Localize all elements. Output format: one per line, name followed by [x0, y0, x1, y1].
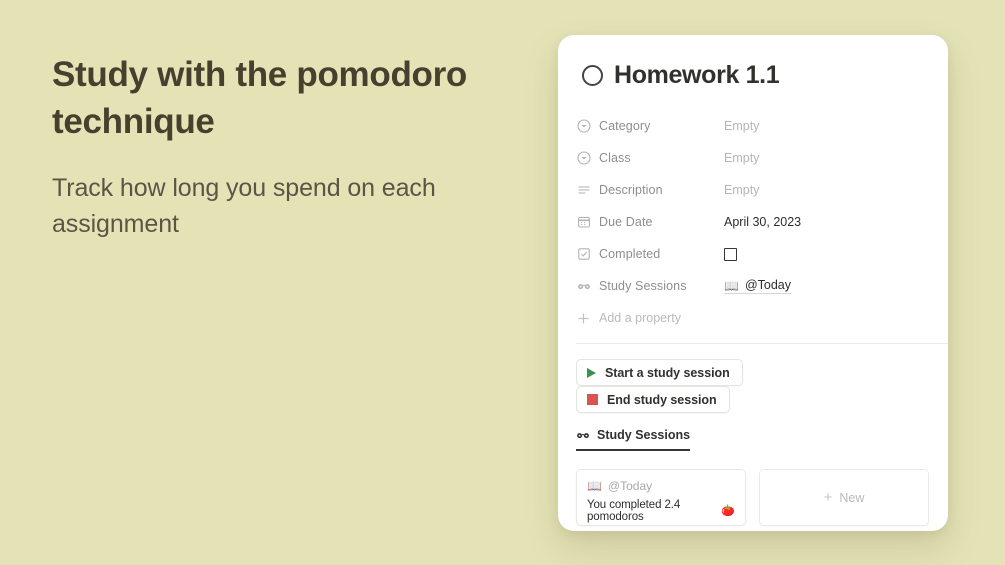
page-title[interactable]: Homework 1.1 — [614, 63, 779, 88]
property-label-study-sessions: Study Sessions — [576, 279, 724, 294]
glasses-icon — [576, 428, 590, 442]
session-card[interactable]: 📖 @Today You completed 2.4 pomodoros 🍅 — [576, 469, 746, 526]
property-label-category: Category — [576, 119, 724, 134]
property-row-study-sessions[interactable]: Study Sessions 📖 @Today — [576, 270, 930, 302]
property-row-description[interactable]: Description Empty — [576, 174, 930, 206]
session-card-title: @Today — [608, 479, 652, 493]
property-name: Due Date — [599, 215, 653, 229]
play-icon — [587, 368, 596, 378]
session-card-text: You completed 2.4 pomodoros — [587, 499, 717, 523]
tab-bar: Study Sessions — [558, 428, 948, 451]
property-name: Class — [599, 151, 631, 165]
property-row-due-date[interactable]: Due Date April 30, 2023 — [576, 206, 930, 238]
new-session-button[interactable]: + New — [759, 469, 929, 526]
session-card-header: 📖 @Today — [587, 479, 735, 493]
plus-icon: + — [824, 490, 833, 505]
promo-subheadline: Track how long you spend on each assignm… — [52, 171, 522, 242]
text-lines-icon — [576, 183, 591, 198]
checkbox-icon — [576, 247, 591, 262]
property-row-completed[interactable]: Completed — [576, 238, 930, 270]
session-card-body: You completed 2.4 pomodoros 🍅 — [587, 499, 735, 523]
property-list: Category Empty Class Empty — [558, 110, 948, 333]
property-value-due-date[interactable]: April 30, 2023 — [724, 215, 801, 229]
promo-panel: Study with the pomodoro technique Track … — [52, 52, 522, 242]
completed-checkbox[interactable] — [724, 248, 737, 261]
property-name: Description — [599, 183, 663, 197]
tab-study-sessions[interactable]: Study Sessions — [576, 428, 690, 451]
property-label-completed: Completed — [576, 247, 724, 262]
book-icon: 📖 — [724, 280, 739, 292]
property-label-due-date: Due Date — [576, 215, 724, 230]
end-study-session-label: End study session — [607, 393, 717, 407]
property-value-class[interactable]: Empty — [724, 151, 759, 165]
end-study-session-button[interactable]: End study session — [576, 386, 730, 413]
relation-chip[interactable]: 📖 @Today — [724, 278, 791, 294]
select-icon — [576, 119, 591, 134]
start-study-session-label: Start a study session — [605, 366, 730, 380]
tomato-icon: 🍅 — [721, 506, 735, 517]
new-session-label: New — [839, 491, 864, 505]
add-property-button[interactable]: Add a property — [576, 303, 930, 333]
card-title-row: Homework 1.1 — [558, 63, 948, 88]
plus-icon — [576, 311, 591, 326]
property-name: Completed — [599, 247, 660, 261]
property-name: Study Sessions — [599, 279, 687, 293]
select-icon — [576, 151, 591, 166]
property-label-class: Class — [576, 151, 724, 166]
circle-icon[interactable] — [582, 65, 603, 86]
stop-icon — [587, 394, 598, 405]
add-property-label: Add a property — [599, 311, 681, 325]
calendar-icon — [576, 215, 591, 230]
tab-label: Study Sessions — [597, 428, 690, 442]
property-row-category[interactable]: Category Empty — [576, 110, 930, 142]
property-value-study-sessions[interactable]: 📖 @Today — [724, 278, 791, 294]
property-label-description: Description — [576, 183, 724, 198]
session-card-row: 📖 @Today You completed 2.4 pomodoros 🍅 +… — [558, 451, 948, 526]
start-study-session-button[interactable]: Start a study session — [576, 359, 743, 386]
property-row-class[interactable]: Class Empty — [576, 142, 930, 174]
property-value-category[interactable]: Empty — [724, 119, 759, 133]
property-name: Category — [599, 119, 651, 133]
task-card: Homework 1.1 Category Empty — [558, 35, 948, 531]
promo-headline: Study with the pomodoro technique — [52, 52, 522, 145]
relation-chip-label: @Today — [745, 278, 791, 293]
property-value-description[interactable]: Empty — [724, 183, 759, 197]
glasses-icon — [576, 279, 591, 294]
book-icon: 📖 — [587, 480, 602, 492]
action-buttons: Start a study session End study session — [558, 344, 948, 413]
property-value-completed[interactable] — [724, 248, 737, 261]
